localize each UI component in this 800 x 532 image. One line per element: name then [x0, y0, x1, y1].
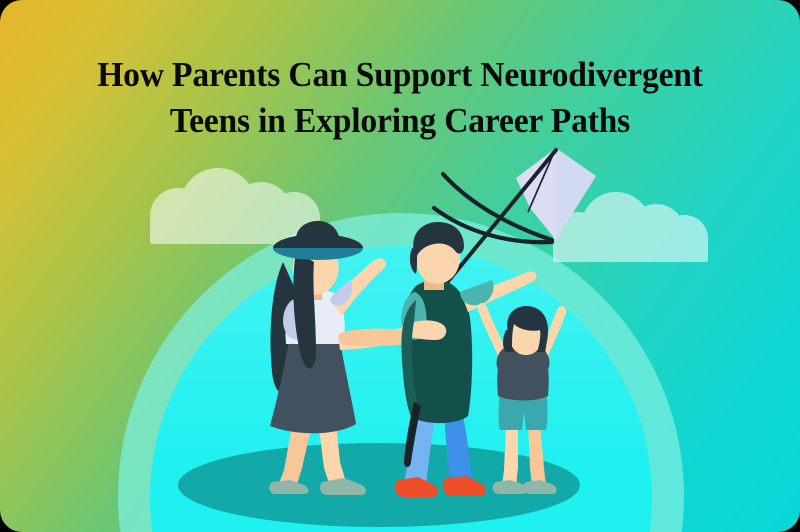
poster-card: How Parents Can Support Neurodivergent T…	[0, 0, 800, 532]
mother-figure	[269, 221, 411, 495]
poster-title-line-1: How Parents Can Support Neurodivergent	[39, 52, 761, 98]
poster-title-line-2: Teens in Exploring Career Paths	[39, 98, 761, 144]
poster-title: How Parents Can Support Neurodivergent T…	[16, 52, 784, 143]
child-figure	[478, 303, 567, 494]
